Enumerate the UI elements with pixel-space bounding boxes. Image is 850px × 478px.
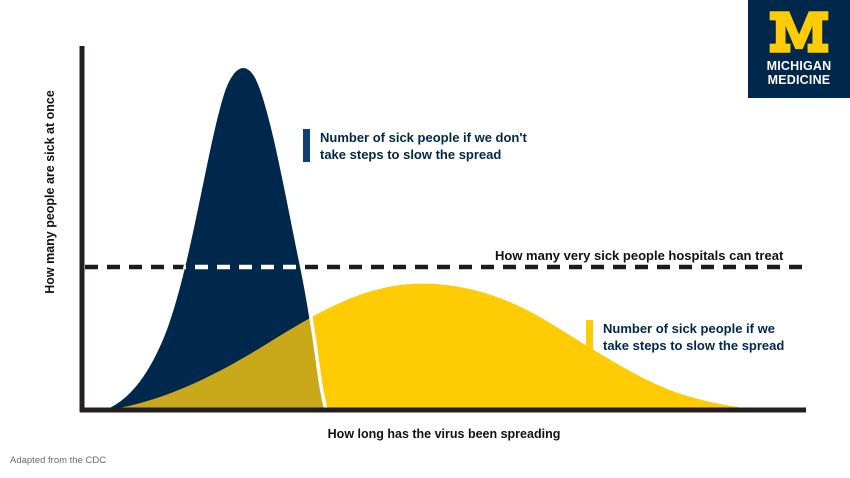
callout-yellow-swatch — [586, 320, 593, 353]
source-note: Adapted from the CDC — [10, 455, 106, 466]
callout-navy-swatch — [303, 129, 310, 162]
logo-line-michigan: MICHIGAN — [767, 60, 832, 74]
flatten-the-curve-chart — [0, 0, 850, 478]
callout-with-mitigation: Number of sick people if we take steps t… — [586, 320, 784, 354]
michigan-medicine-logo: MICHIGAN MEDICINE — [748, 0, 850, 98]
x-axis-title: How long has the virus been spreading — [80, 427, 808, 441]
infographic-canvas: How many people are sick at once How lon… — [0, 0, 850, 478]
hospital-capacity-label: How many very sick people hospitals can … — [495, 248, 783, 263]
callout-no-mitigation-line1: Number of sick people if we don't — [320, 130, 527, 145]
callout-with-mitigation-line1: Number of sick people if we — [603, 321, 775, 336]
callout-no-mitigation-label: Number of sick people if we don't take s… — [320, 129, 527, 163]
y-axis-title: How many people are sick at once — [43, 77, 57, 307]
logo-wordmark: MICHIGAN MEDICINE — [767, 60, 832, 87]
logo-line-medicine: MEDICINE — [767, 74, 832, 88]
callout-with-mitigation-label: Number of sick people if we take steps t… — [603, 320, 784, 354]
callout-no-mitigation: Number of sick people if we don't take s… — [303, 129, 527, 163]
block-m-icon — [768, 10, 830, 54]
callout-with-mitigation-line2: take steps to slow the spread — [603, 338, 784, 353]
callout-no-mitigation-line2: take steps to slow the spread — [320, 147, 501, 162]
